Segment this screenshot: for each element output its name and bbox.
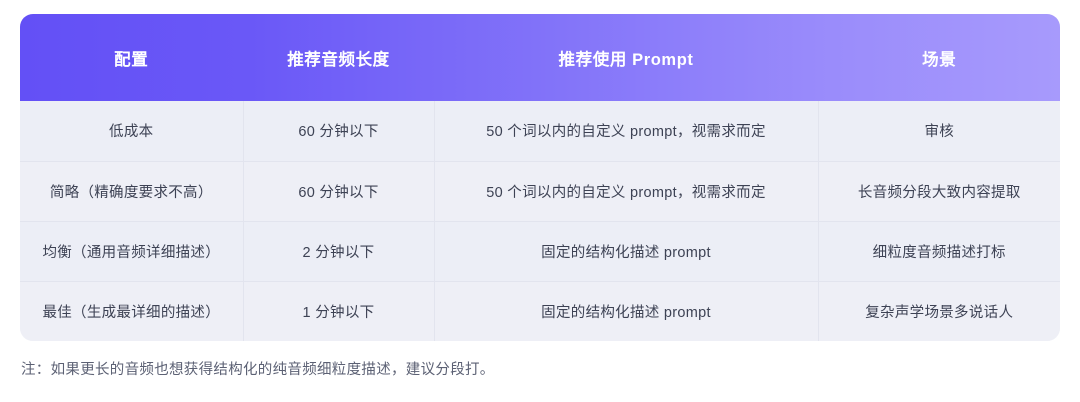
cell-config: 均衡（通用音频详细描述） <box>20 221 243 281</box>
cell-duration: 1 分钟以下 <box>243 281 434 341</box>
page-root: 配置 推荐音频长度 推荐使用 Prompt 场景 低成本 60 分钟以 <box>0 0 1080 402</box>
column-header-duration: 推荐音频长度 <box>243 14 434 101</box>
cell-prompt: 固定的结构化描述 prompt <box>434 221 818 281</box>
cell-duration: 60 分钟以下 <box>243 161 434 221</box>
cell-scene: 复杂声学场景多说话人 <box>818 281 1060 341</box>
cell-config: 最佳（生成最详细的描述） <box>20 281 243 341</box>
table-row: 简略（精确度要求不高） 60 分钟以下 50 个词以内的自定义 prompt，视… <box>20 161 1060 221</box>
table-row: 最佳（生成最详细的描述） 1 分钟以下 固定的结构化描述 prompt 复杂声学… <box>20 281 1060 341</box>
cell-config: 低成本 <box>20 101 243 161</box>
column-header-prompt-label: 推荐使用 Prompt <box>559 51 694 69</box>
table-head: 配置 推荐音频长度 推荐使用 Prompt 场景 <box>20 14 1060 101</box>
cell-prompt: 50 个词以内的自定义 prompt，视需求而定 <box>434 101 818 161</box>
column-header-prompt: 推荐使用 Prompt <box>434 14 818 101</box>
cell-scene: 长音频分段大致内容提取 <box>818 161 1060 221</box>
cell-scene: 审核 <box>818 101 1060 161</box>
table-header-row: 配置 推荐音频长度 推荐使用 Prompt 场景 <box>20 14 1060 101</box>
table-body: 低成本 60 分钟以下 50 个词以内的自定义 prompt，视需求而定 审核 … <box>20 101 1060 341</box>
table-footnote: 注：如果更长的音频也想获得结构化的纯音频细粒度描述，建议分段打。 <box>21 358 495 379</box>
cell-prompt: 固定的结构化描述 prompt <box>434 281 818 341</box>
column-header-config-label: 配置 <box>114 51 148 69</box>
config-table: 配置 推荐音频长度 推荐使用 Prompt 场景 低成本 60 分钟以 <box>20 14 1060 341</box>
table-row: 均衡（通用音频详细描述） 2 分钟以下 固定的结构化描述 prompt 细粒度音… <box>20 221 1060 281</box>
cell-duration: 60 分钟以下 <box>243 101 434 161</box>
column-header-scene: 场景 <box>818 14 1060 101</box>
cell-prompt: 50 个词以内的自定义 prompt，视需求而定 <box>434 161 818 221</box>
cell-scene: 细粒度音频描述打标 <box>818 221 1060 281</box>
column-header-duration-label: 推荐音频长度 <box>287 51 390 69</box>
column-header-scene-label: 场景 <box>922 51 956 69</box>
cell-duration: 2 分钟以下 <box>243 221 434 281</box>
recommendation-table: 配置 推荐音频长度 推荐使用 Prompt 场景 低成本 60 分钟以 <box>20 14 1060 341</box>
column-header-config: 配置 <box>20 14 243 101</box>
table-row: 低成本 60 分钟以下 50 个词以内的自定义 prompt，视需求而定 审核 <box>20 101 1060 161</box>
cell-config: 简略（精确度要求不高） <box>20 161 243 221</box>
